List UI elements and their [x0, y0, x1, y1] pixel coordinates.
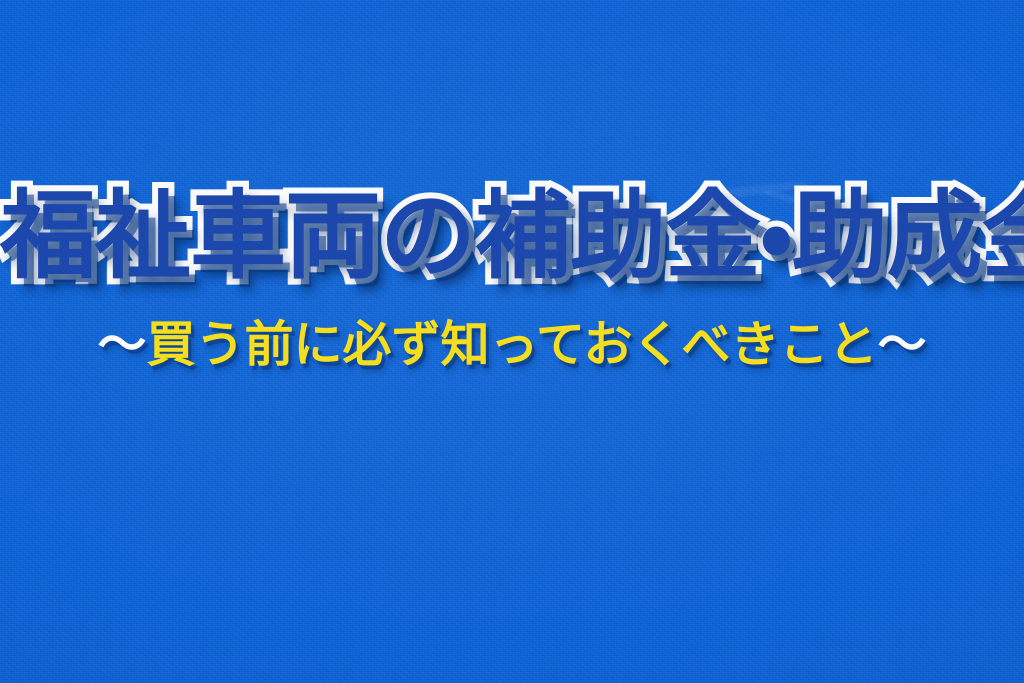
subtitle: 〜買う前に必ず知っておくべきこと〜: [97, 318, 926, 372]
title-slide: 福祉車両の補助金・助成金 福祉車両の補助金・助成金 〜買う前に必ず知っておくべき…: [0, 0, 1024, 683]
main-title-text: 福祉車両の補助金・助成金: [0, 186, 1024, 288]
subtitle-lead-tilde: 〜: [97, 316, 146, 373]
title-block: 福祉車両の補助金・助成金 福祉車両の補助金・助成金: [0, 186, 1024, 288]
subtitle-text: 買う前に必ず知っておくべきこと: [146, 316, 877, 373]
main-title: 福祉車両の補助金・助成金 福祉車両の補助金・助成金: [0, 186, 1024, 288]
subtitle-block: 〜買う前に必ず知っておくべきこと〜: [0, 318, 1024, 372]
subtitle-trail-tilde: 〜: [878, 316, 927, 373]
